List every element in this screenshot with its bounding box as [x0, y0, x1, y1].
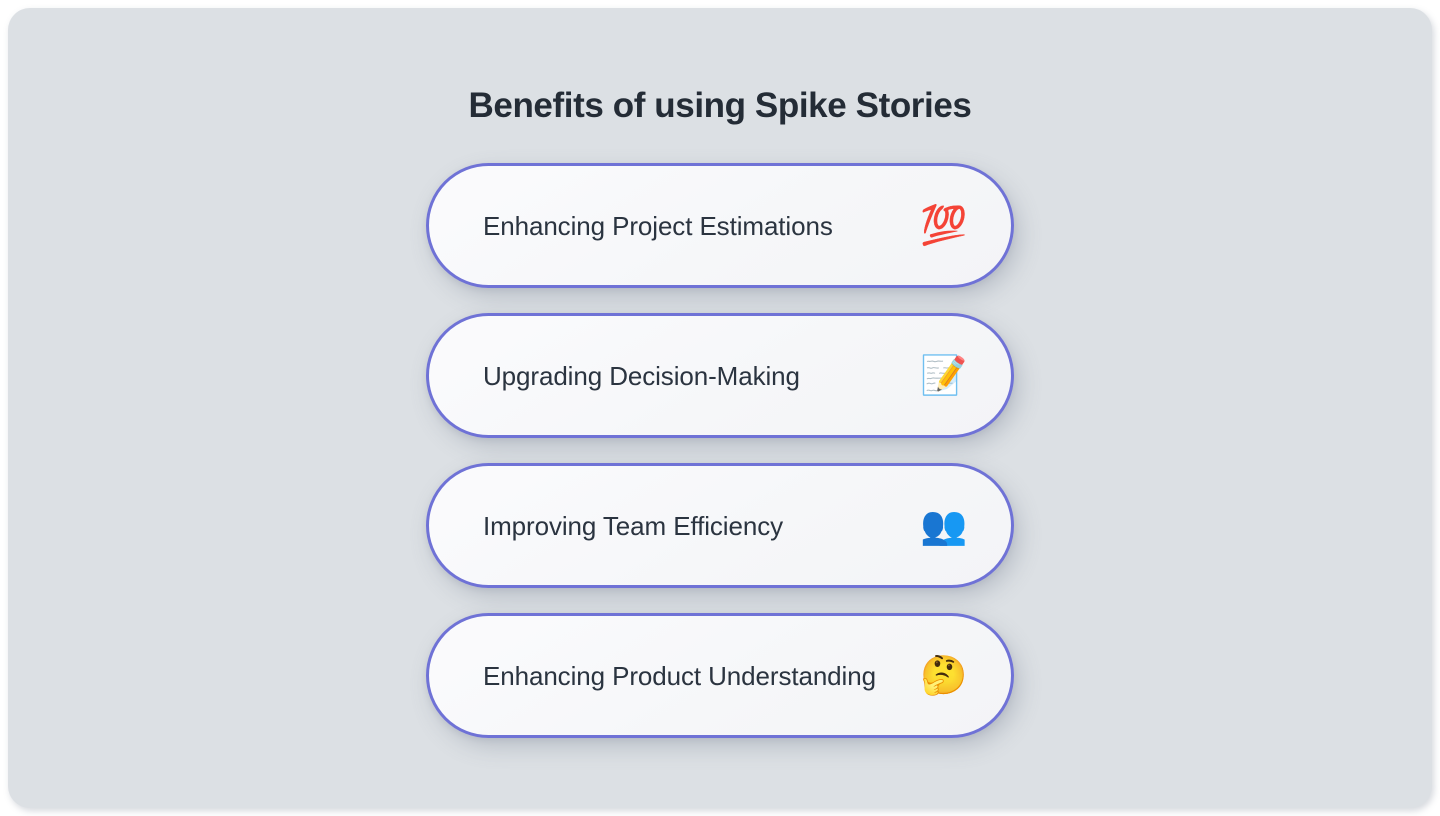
benefit-card-3[interactable]: Improving Team Efficiency 👥: [426, 463, 1014, 588]
benefit-card-2[interactable]: Upgrading Decision-Making 📝: [426, 313, 1014, 438]
hundred-points-icon: 💯: [917, 207, 971, 245]
benefit-card-4[interactable]: Enhancing Product Understanding 🤔: [426, 613, 1014, 738]
memo-icon: 📝: [917, 357, 971, 395]
benefits-card-list: Enhancing Project Estimations 💯 Upgradin…: [426, 163, 1018, 738]
infographic-canvas: Benefits of using Spike Stories Enhancin…: [8, 8, 1432, 808]
benefit-card-label: Improving Team Efficiency: [483, 506, 783, 546]
thinking-face-icon: 🤔: [917, 657, 971, 695]
benefit-card-label: Upgrading Decision-Making: [483, 356, 800, 396]
benefit-card-label: Enhancing Project Estimations: [483, 206, 833, 246]
benefit-card-1[interactable]: Enhancing Project Estimations 💯: [426, 163, 1014, 288]
busts-in-silhouette-icon: 👥: [917, 507, 971, 545]
page-title: Benefits of using Spike Stories: [8, 84, 1432, 128]
benefit-card-label: Enhancing Product Understanding: [483, 656, 876, 696]
